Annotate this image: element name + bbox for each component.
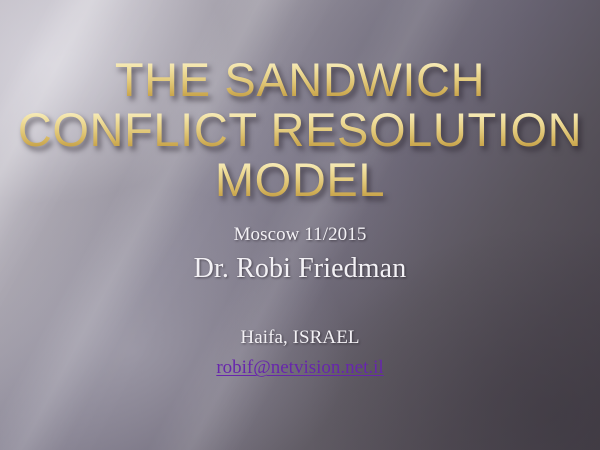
presenter-location: Haifa, ISRAEL <box>0 327 600 349</box>
venue-and-date: Moscow 11/2015 <box>0 224 600 246</box>
email-row: robif@netvision.net.il <box>0 349 600 379</box>
presenter-name: Dr. Robi Friedman <box>0 253 600 285</box>
title-line-2: CONFLICT RESOLUTION <box>0 106 600 156</box>
slide-content: THE SANDWICH CONFLICT RESOLUTION MODEL M… <box>0 0 600 450</box>
presentation-slide: THE SANDWICH CONFLICT RESOLUTION MODEL M… <box>0 0 600 450</box>
slide-title: THE SANDWICH CONFLICT RESOLUTION MODEL <box>0 56 600 206</box>
title-line-1: THE SANDWICH <box>0 56 600 106</box>
slide-subtitle: Moscow 11/2015 Dr. Robi Friedman Haifa, … <box>0 206 600 379</box>
email-link[interactable]: robif@netvision.net.il <box>216 357 383 379</box>
title-line-3: MODEL <box>0 156 600 206</box>
